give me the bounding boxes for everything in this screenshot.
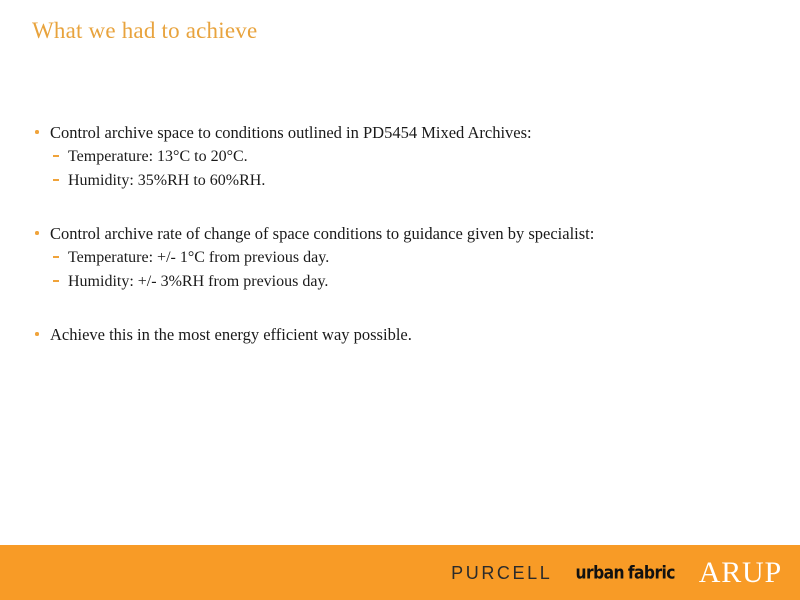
partner-logo-row: PURCELL urbanfabric ARUP	[451, 545, 782, 600]
footer-band: PURCELL urbanfabric ARUP	[0, 545, 800, 600]
bullet-item-level1: Achieve this in the most energy efficien…	[32, 323, 768, 347]
bullet-dot-icon	[35, 332, 39, 336]
bullet-dash-icon	[53, 179, 59, 181]
bullet-item-level2: Humidity: +/- 3%RH from previous day.	[32, 270, 768, 294]
arup-logo: ARUP	[699, 558, 782, 588]
bullet-text: Control archive rate of change of space …	[50, 224, 594, 243]
bullet-dash-icon	[53, 256, 59, 258]
urban-fabric-word2: fabric	[628, 561, 675, 582]
bullet-text: Humidity: +/- 3%RH from previous day.	[68, 273, 328, 290]
bullet-text: Temperature: 13°C to 20°C.	[68, 148, 248, 165]
purcell-logo: PURCELL	[451, 563, 552, 582]
urban-fabric-logo: urbanfabric	[576, 564, 675, 582]
bullet-item-level2: Humidity: 35%RH to 60%RH.	[32, 169, 768, 193]
urban-fabric-word1: urban	[576, 561, 624, 582]
bullet-item-level2: Temperature: 13°C to 20°C.	[32, 145, 768, 169]
bullet-dot-icon	[35, 130, 39, 134]
bullet-item-level2: Temperature: +/- 1°C from previous day.	[32, 246, 768, 270]
slide-canvas: What we had to achieve Control archive s…	[0, 0, 800, 600]
page-title: What we had to achieve	[32, 16, 257, 46]
bullet-item-level1: Control archive space to conditions outl…	[32, 121, 768, 145]
bullet-dash-icon	[53, 155, 59, 157]
bullet-dash-icon	[53, 280, 59, 282]
bullet-text: Control archive space to conditions outl…	[50, 123, 532, 142]
bullet-group: Control archive rate of change of space …	[32, 222, 768, 294]
bullet-item-level1: Control archive rate of change of space …	[32, 222, 768, 246]
bullet-text: Achieve this in the most energy efficien…	[50, 325, 412, 344]
bullet-text: Humidity: 35%RH to 60%RH.	[68, 172, 265, 189]
bullet-text: Temperature: +/- 1°C from previous day.	[68, 249, 329, 266]
bullet-group: Control archive space to conditions outl…	[32, 121, 768, 193]
bullet-dot-icon	[35, 231, 39, 235]
slide-body: Control archive space to conditions outl…	[32, 121, 768, 347]
bullet-group: Achieve this in the most energy efficien…	[32, 323, 768, 347]
